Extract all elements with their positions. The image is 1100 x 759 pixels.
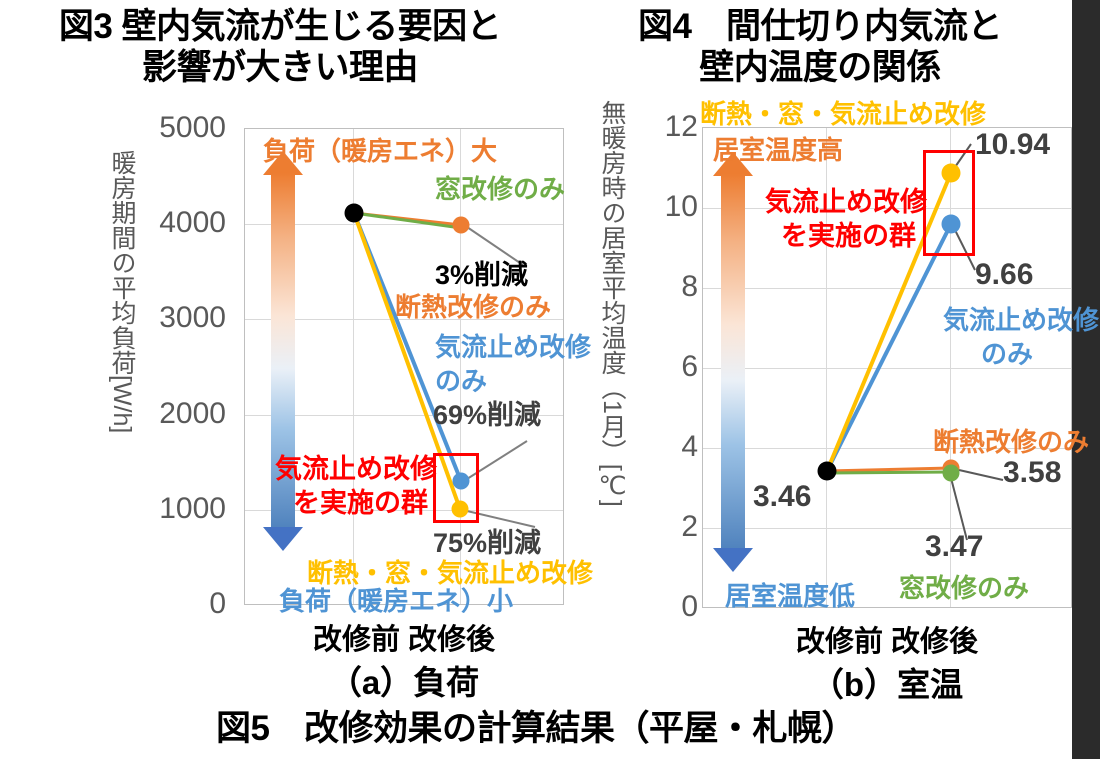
chart-a-ytick-3000: 3000 — [136, 301, 226, 335]
chart-b-arrow-top-label: 居室温度高 — [713, 130, 843, 167]
chart-a-subcaption: （a）負荷 — [244, 656, 564, 704]
chart-a-label-airstop-only-line1: 気流止め改修 — [435, 327, 591, 364]
chart-b-value-347: 3.47 — [925, 530, 983, 564]
chart-b-ytick-4: 4 — [638, 430, 698, 464]
chart-a-ytick-4000: 4000 — [136, 206, 226, 240]
chart-b-value-1094: 10.94 — [975, 128, 1050, 162]
chart-a-load: 暖房期間の平均負荷[W/h] 5000 4000 3000 2000 1000 … — [0, 0, 570, 700]
chart-a-y-axis-title: 暖房期間の平均負荷[W/h] — [104, 150, 140, 600]
chart-b-label-airstop-only-line1: 気流止め改修 — [943, 300, 1099, 337]
chart-b-ytick-6: 6 — [638, 350, 698, 384]
chart-b-arrow-bottom-label: 居室温度低 — [725, 576, 855, 613]
chart-b-label-window-only: 窓改修のみ — [899, 568, 1029, 605]
chart-a-label-insulation-only: 断熱改修のみ — [395, 287, 551, 324]
chart-a-highlight-label-line2: を実施の群 — [293, 481, 428, 520]
chart-a-callout-69pct: 69%削減 — [433, 393, 541, 432]
chart-b-highlight-box — [923, 150, 975, 256]
chart-a-line-window — [354, 213, 461, 228]
chart-b-line-window — [827, 472, 951, 473]
chart-a-ytick-0: 0 — [136, 587, 226, 621]
chart-b-value-358: 3.58 — [1003, 456, 1061, 490]
chart-a-ytick-5000: 5000 — [136, 111, 226, 145]
chart-b-ytick-8: 8 — [638, 270, 698, 304]
chart-b-highlight-label-line2: を実施の群 — [781, 214, 916, 253]
figure5-caption: 図5 改修効果の計算結果（平屋・札幌） — [0, 700, 1072, 751]
chart-a-x-categories: 改修前 改修後 — [244, 616, 564, 658]
chart-b-ytick-0: 0 — [638, 590, 698, 624]
chart-a-ytick-2000: 2000 — [136, 397, 226, 431]
chart-b-ytick-12: 12 — [638, 110, 698, 144]
chart-b-point-window-after — [943, 465, 960, 482]
chart-b-value-966: 9.66 — [975, 258, 1033, 292]
chart-a-plot-area: 負荷（暖房エネ）大 窓改修のみ 3%削減 断熱改修のみ 気流止め改修 のみ 69… — [244, 128, 564, 605]
chart-a-label-window-only: 窓改修のみ — [435, 169, 565, 206]
chart-a-arrow-top-label: 負荷（暖房エネ）大 — [263, 131, 497, 168]
chart-a-point-insulation-after — [453, 217, 470, 234]
chart-b-plot-area: 居室温度高 気流止め改修 を実施の群 10.94 9.66 気流止め改修 のみ … — [702, 127, 1072, 608]
chart-b-ytick-2: 2 — [638, 510, 698, 544]
chart-b-label-airstop-only-line2: のみ — [981, 334, 1033, 371]
chart-a-arrow-bottom-label: 負荷（暖房エネ）小 — [279, 581, 513, 618]
chart-b-room-temperature: 無暖房時の居室平均温度（1月）[℃] 12 10 8 6 4 2 0 断熱・窓・… — [570, 0, 1072, 700]
slide-root: 図3 壁内気流が生じる要因と 影響が大きい理由 図4 間仕切り内気流と 壁内温度… — [0, 0, 1100, 759]
chart-b-value-346: 3.46 — [753, 480, 811, 514]
chart-b-label-insulation-only: 断熱改修のみ — [933, 422, 1089, 459]
chart-b-x-categories: 改修前 改修後 — [702, 618, 1072, 660]
chart-b-ytick-10: 10 — [638, 190, 698, 224]
chart-a-ytick-1000: 1000 — [136, 492, 226, 526]
chart-b-line-insulation — [827, 468, 951, 471]
chart-b-label-all-measures-top: 断熱・窓・気流止め改修 — [700, 94, 986, 131]
chart-a-highlight-box — [433, 453, 479, 523]
chart-b-leader-358 — [959, 470, 1003, 480]
slide-right-edge-bar — [1072, 0, 1100, 759]
chart-a-point-before — [345, 204, 364, 223]
chart-b-y-axis-title: 無暖房時の居室平均温度（1月）[℃] — [594, 100, 630, 620]
chart-b-point-before — [818, 462, 837, 481]
chart-b-subcaption: （b）室温 — [702, 658, 1072, 706]
